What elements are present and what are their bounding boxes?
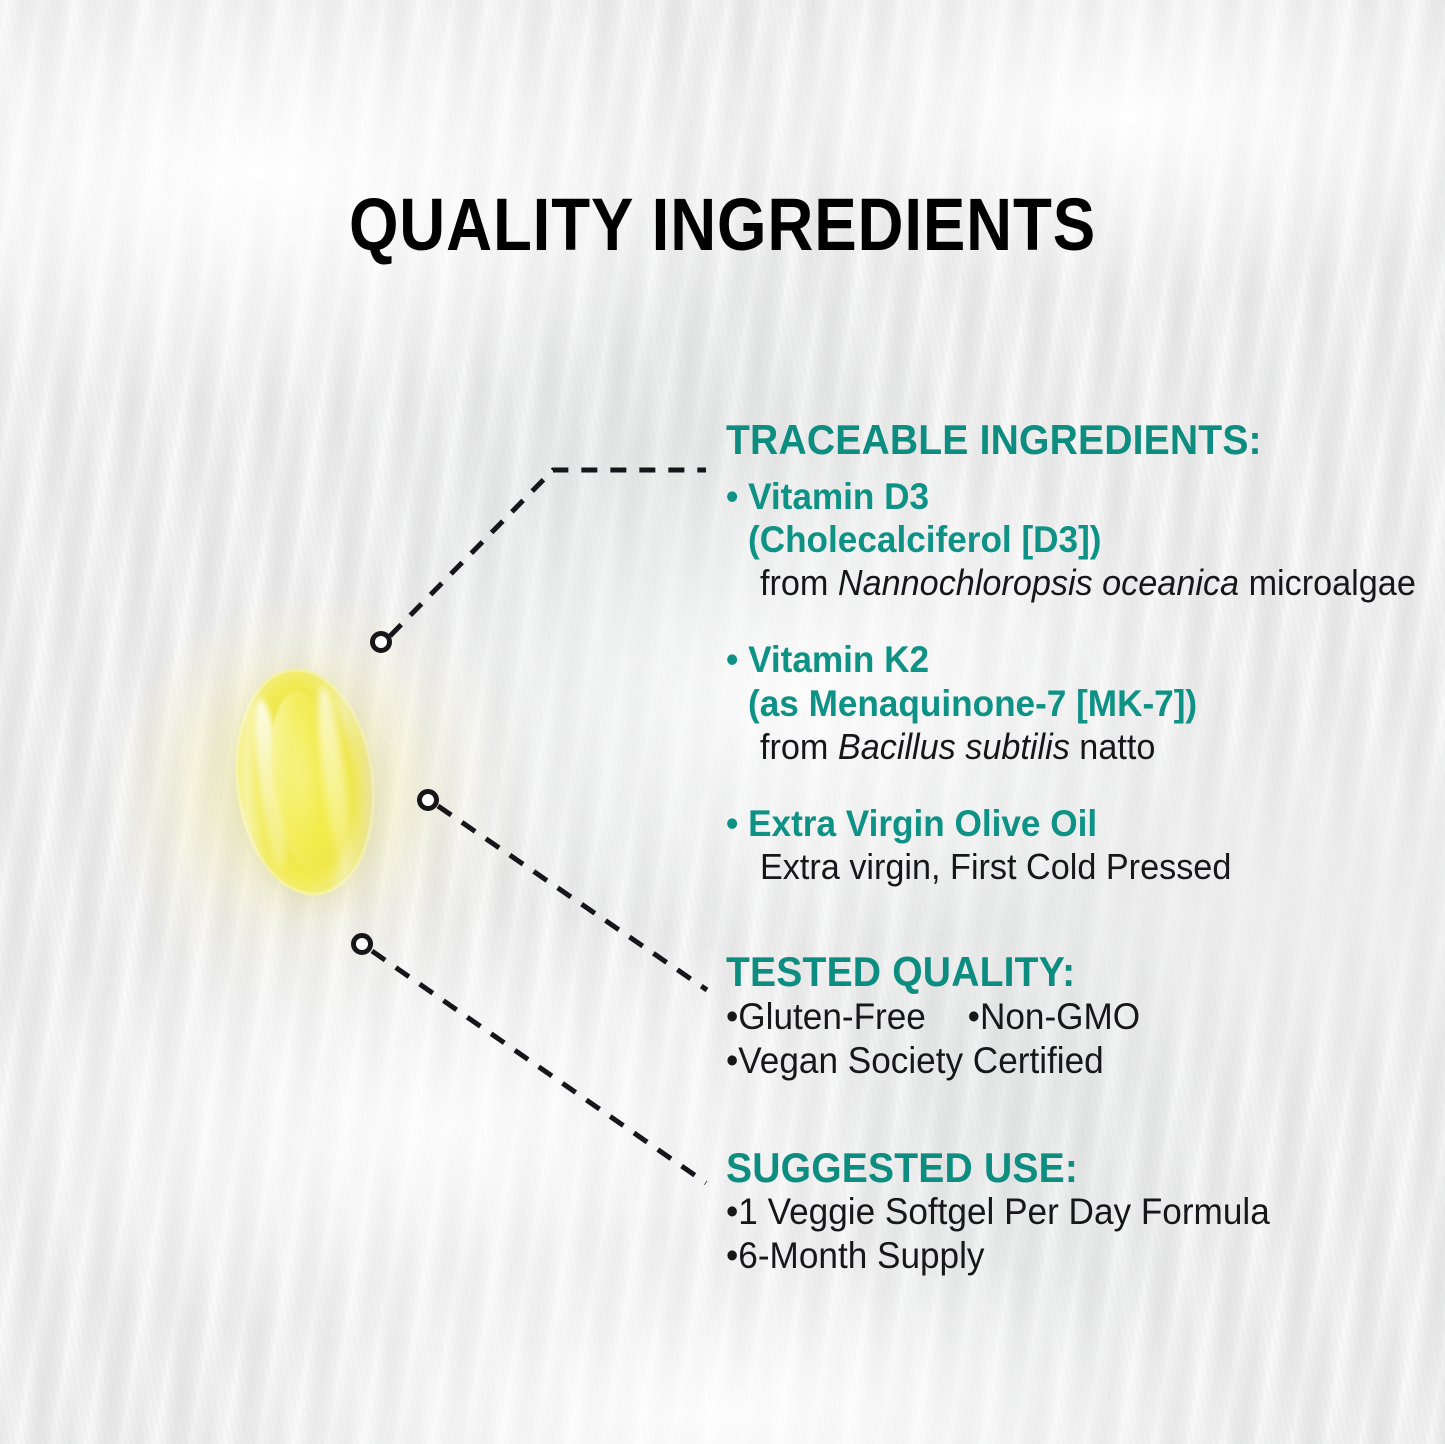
ingredient-3-name: • Extra Virgin Olive Oil: [726, 803, 1097, 844]
suggested-use-line-2: •6-Month Supply: [726, 1234, 1391, 1278]
ingredient-1-subtitle-row: (Cholecalciferol [D3]): [748, 518, 1392, 562]
section-tested-quality: TESTED QUALITY: •Gluten-Free•Non-GMO •Ve…: [726, 950, 1426, 1083]
tested-quality-line-1: •Gluten-Free•Non-GMO: [726, 995, 1391, 1039]
callout-text-column: TRACEABLE INGREDIENTS: • Vitamin D3 (Cho…: [726, 418, 1426, 1279]
section-heading-suggested-use: SUGGESTED USE:: [726, 1146, 1377, 1191]
section-heading-tested-quality: TESTED QUALITY:: [726, 950, 1377, 995]
ingredient-1-source-prefix: from: [760, 562, 838, 603]
ingredient-2-subtitle: (as Menaquinone-7 [MK-7]): [748, 683, 1197, 724]
callout-dot-1[interactable]: [373, 634, 390, 651]
ingredient-item-1: • Vitamin D3: [726, 475, 1391, 519]
ingredient-3-source: Extra virgin, First Cold Pressed: [760, 846, 1231, 887]
ingredient-1-source-suffix: microalgae: [1239, 562, 1416, 603]
ingredient-1-subtitle: (Cholecalciferol [D3]): [748, 519, 1102, 560]
ingredient-1-source-species: Nannochloropsis oceanica: [838, 562, 1239, 603]
ingredient-item-3: • Extra Virgin Olive Oil: [726, 802, 1391, 846]
badge-non-gmo: •Non-GMO: [968, 996, 1140, 1037]
section-traceable-ingredients: TRACEABLE INGREDIENTS: • Vitamin D3 (Cho…: [726, 418, 1426, 888]
callout-dot-3[interactable]: [354, 936, 371, 953]
tested-quality-line-2: •Vegan Society Certified: [726, 1039, 1391, 1083]
ingredient-2-source-suffix: natto: [1070, 726, 1156, 767]
badge-gluten-free: •Gluten-Free: [726, 996, 926, 1037]
leader-line-2: [438, 806, 707, 990]
suggested-use-line-1: •1 Veggie Softgel Per Day Formula: [726, 1190, 1391, 1234]
ingredient-2-subtitle-row: (as Menaquinone-7 [MK-7]): [748, 682, 1392, 726]
leader-line-1: [390, 470, 706, 636]
ingredient-2-source-row: from Bacillus subtilis natto: [760, 726, 1393, 768]
ingredient-1-name: • Vitamin D3: [726, 476, 929, 517]
leader-line-3: [372, 951, 706, 1183]
badge-vegan-society-certified: •Vegan Society Certified: [726, 1040, 1104, 1081]
infographic-canvas: QUALITY INGREDIENTS TRACEABLE INGREDIENT…: [0, 0, 1445, 1444]
section-suggested-use: SUGGESTED USE: •1 Veggie Softgel Per Day…: [726, 1146, 1426, 1279]
callout-dot-2[interactable]: [420, 792, 437, 809]
ingredient-1-source-row: from Nannochloropsis oceanica microalgae: [760, 562, 1393, 604]
section-heading-traceable: TRACEABLE INGREDIENTS:: [726, 418, 1377, 463]
ingredient-3-source-row: Extra virgin, First Cold Pressed: [760, 846, 1393, 888]
ingredient-item-2: • Vitamin K2: [726, 638, 1391, 682]
ingredient-2-source-species: Bacillus subtilis: [838, 726, 1070, 767]
ingredient-2-name: • Vitamin K2: [726, 639, 929, 680]
ingredient-2-source-prefix: from: [760, 726, 838, 767]
